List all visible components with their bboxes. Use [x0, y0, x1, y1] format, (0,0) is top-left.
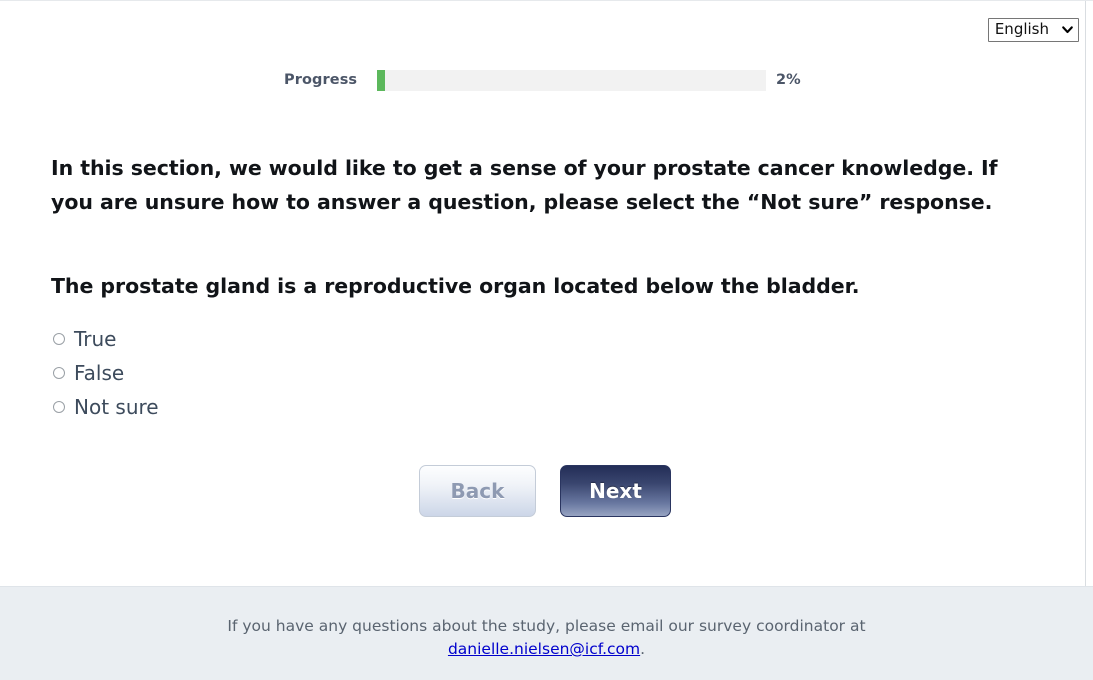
progress-label: Progress	[284, 67, 357, 93]
progress-bar-fill	[377, 70, 385, 91]
progress-row: Progress 2%	[0, 67, 1086, 93]
language-selector-wrapper: English	[988, 18, 1079, 42]
navigation-buttons: Back Next	[0, 465, 1086, 519]
option-not-sure[interactable]: Not sure	[51, 390, 1041, 424]
survey-content-pane: English Progress 2% In this section, we …	[0, 1, 1086, 586]
option-true[interactable]: True	[51, 322, 1041, 356]
back-button[interactable]: Back	[419, 465, 536, 517]
progress-percent-text: 2%	[776, 67, 801, 93]
footer-text: If you have any questions about the stud…	[0, 587, 1093, 661]
option-false[interactable]: False	[51, 356, 1041, 390]
answer-options: True False Not sure	[51, 322, 1041, 424]
option-label-not-sure: Not sure	[74, 390, 159, 424]
language-select[interactable]: English	[988, 18, 1079, 42]
section-intro-text: In this section, we would like to get a …	[51, 151, 1041, 219]
radio-not-sure[interactable]	[53, 401, 65, 413]
next-button[interactable]: Next	[560, 465, 671, 517]
chevron-down-icon	[1061, 23, 1074, 36]
question-text: The prostate gland is a reproductive org…	[51, 269, 1041, 303]
option-label-false: False	[74, 356, 124, 390]
footer-text-after: .	[640, 640, 645, 658]
radio-false[interactable]	[53, 367, 65, 379]
footer-email-link[interactable]: danielle.nielsen@icf.com	[448, 640, 640, 658]
option-label-true: True	[74, 322, 116, 356]
survey-page: English Progress 2% In this section, we …	[0, 0, 1093, 679]
radio-true[interactable]	[53, 333, 65, 345]
page-footer: If you have any questions about the stud…	[0, 586, 1093, 680]
footer-text-before: If you have any questions about the stud…	[227, 617, 865, 635]
progress-bar-track	[377, 70, 766, 91]
language-select-value: English	[995, 21, 1049, 38]
question-block: In this section, we would like to get a …	[51, 151, 1041, 424]
